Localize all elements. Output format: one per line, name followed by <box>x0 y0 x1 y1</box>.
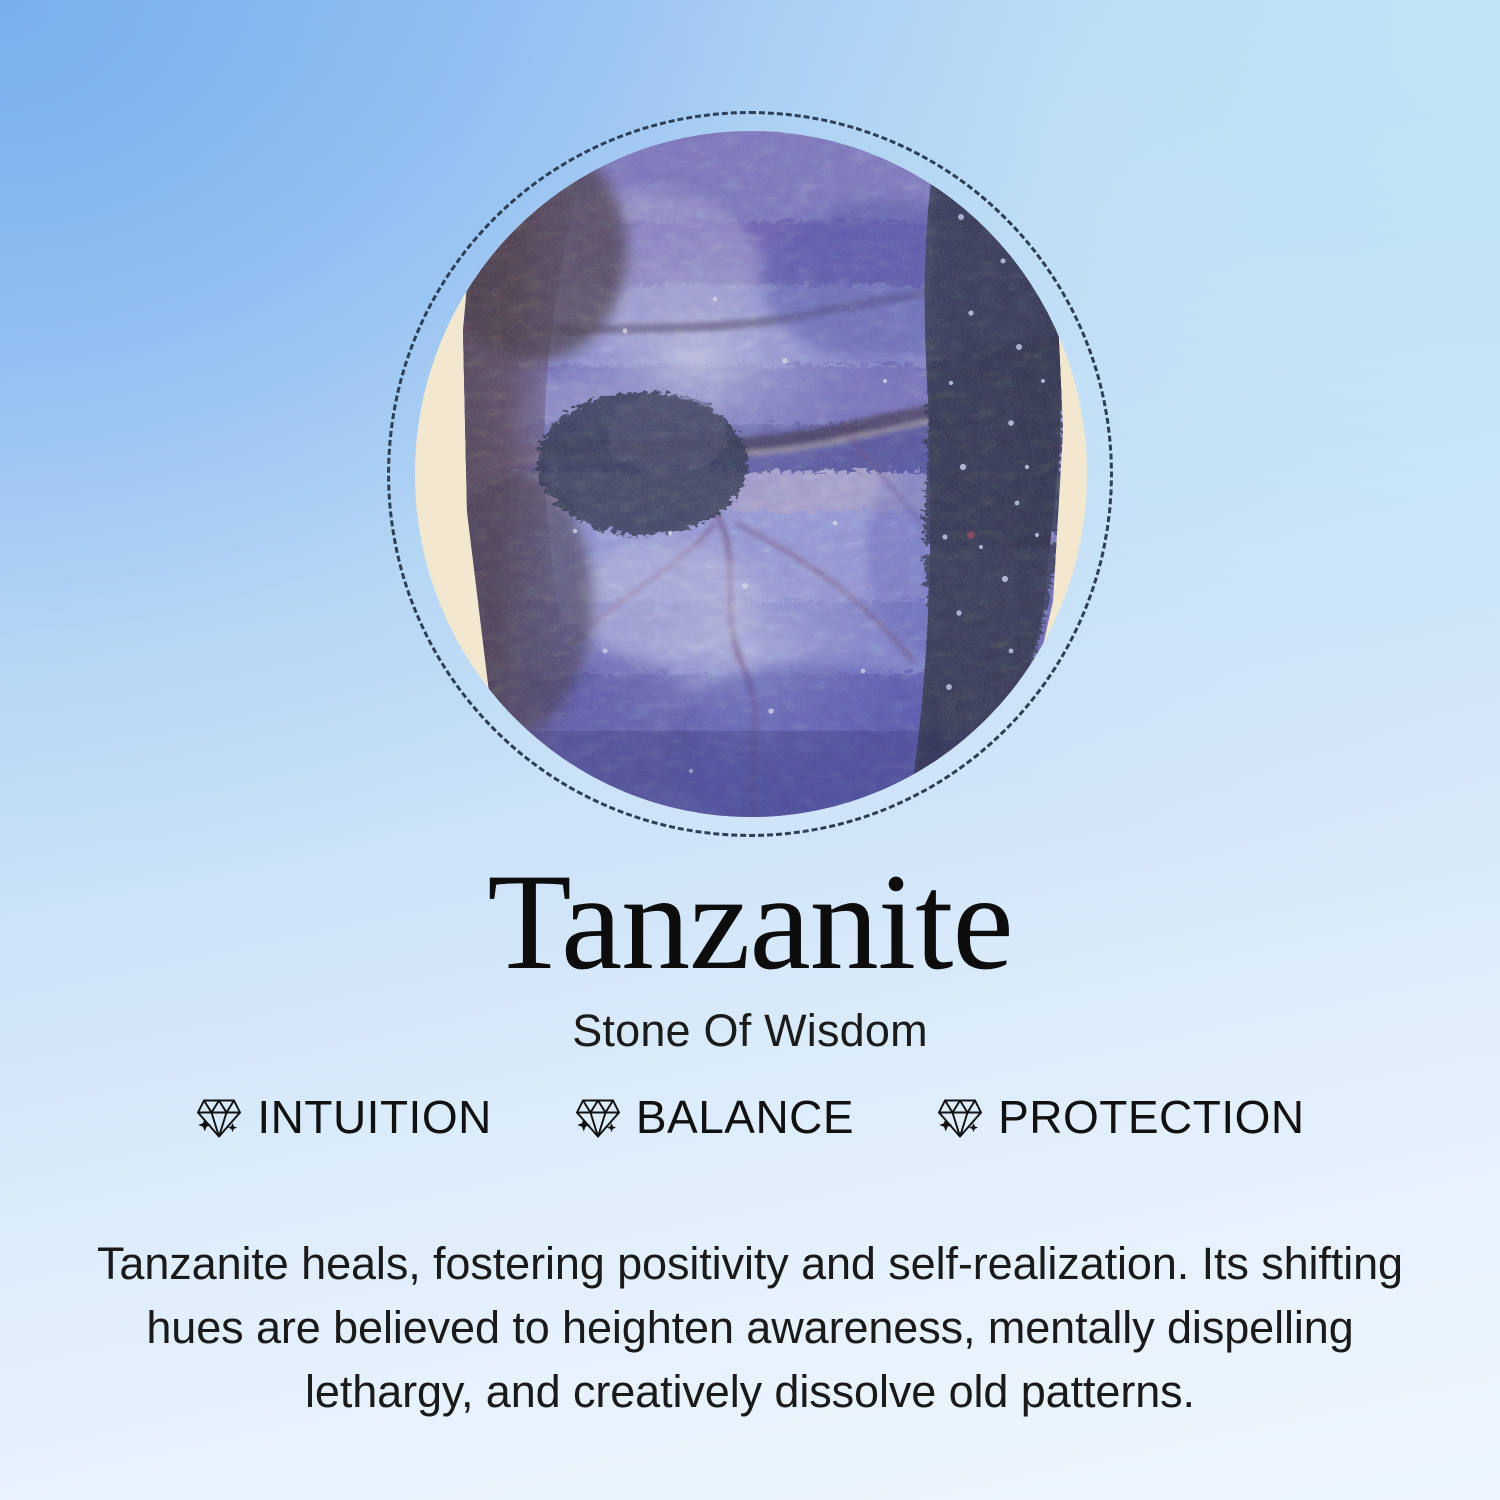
keyword-label: BALANCE <box>636 1090 854 1144</box>
keyword-item-intuition: INTUITION <box>195 1090 491 1144</box>
page-title: Tanzanite <box>0 852 1500 993</box>
description-text: Tanzanite heals, fostering positivity an… <box>95 1232 1405 1424</box>
keyword-item-protection: PROTECTION <box>936 1090 1305 1144</box>
page-subtitle: Stone Of Wisdom <box>0 1005 1500 1057</box>
keyword-row: INTUITION BALANCE <box>0 1090 1500 1144</box>
diamond-icon <box>936 1093 984 1141</box>
keyword-item-balance: BALANCE <box>574 1090 854 1144</box>
keyword-label: INTUITION <box>257 1090 491 1144</box>
title-block: Tanzanite Stone Of Wisdom <box>0 852 1500 1057</box>
diamond-icon <box>195 1093 243 1141</box>
dashed-circle-border <box>387 111 1113 837</box>
gemstone-info-poster: Tanzanite Stone Of Wisdom INTUITION <box>0 0 1500 1500</box>
keyword-label: PROTECTION <box>998 1090 1305 1144</box>
diamond-icon <box>574 1093 622 1141</box>
